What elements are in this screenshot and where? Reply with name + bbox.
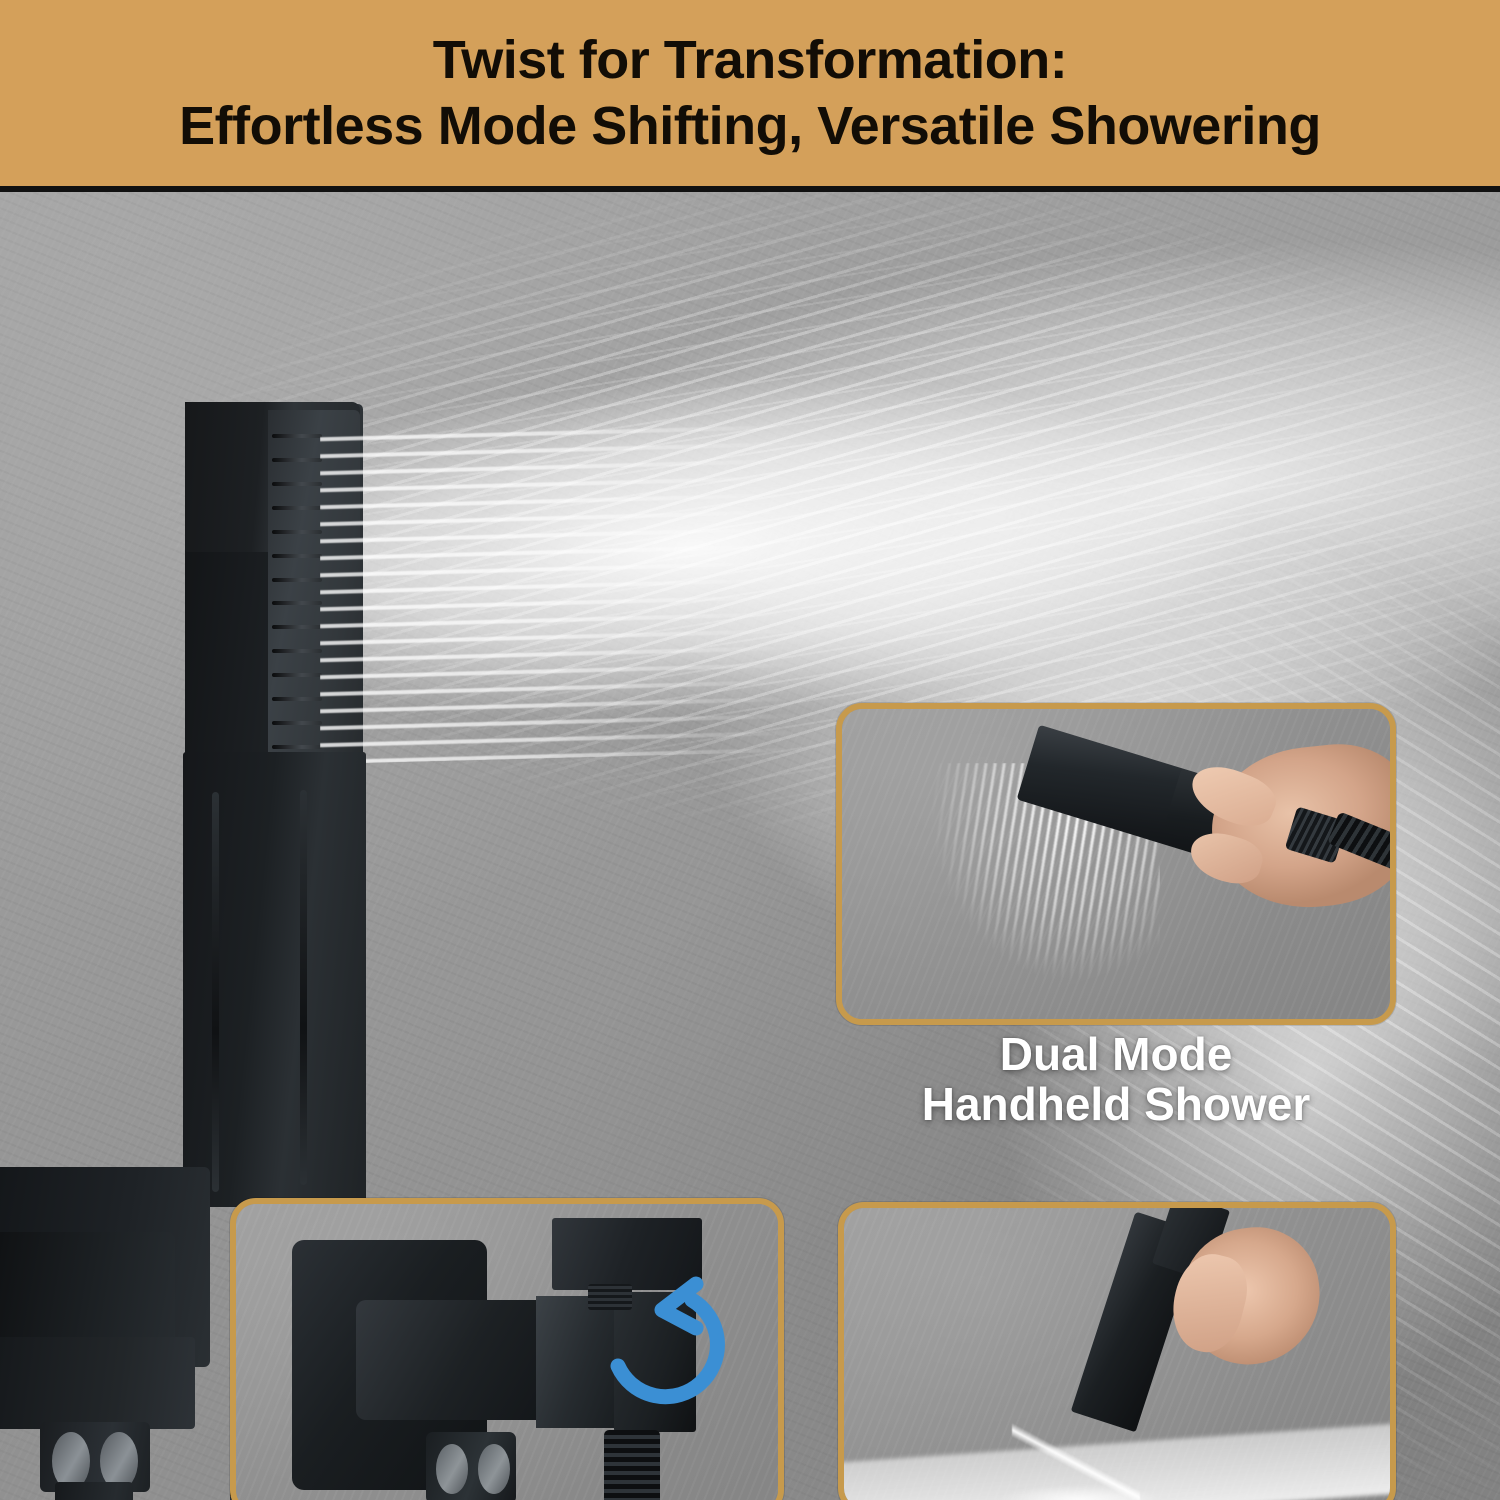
valve-cap: [0, 1337, 195, 1429]
outlet-knob-right: [478, 1444, 510, 1494]
panel3-content: [844, 1208, 1390, 1500]
panel-adjustable-shower-holder[interactable]: [230, 1198, 784, 1500]
down-pipe: [55, 1482, 133, 1500]
nozzle-row: [272, 434, 322, 438]
header-title-line-2: Effortless Mode Shifting, Versatile Show…: [179, 99, 1321, 153]
shower-body-middle: [183, 752, 366, 1207]
nozzle-row: [272, 721, 322, 725]
holder-arm: [356, 1300, 546, 1420]
product-feature-image: Twist for Transformation: Effortless Mod…: [0, 0, 1500, 1500]
flexible-hose: [604, 1430, 660, 1500]
caption1-line1: Dual Mode: [836, 1030, 1396, 1080]
nozzle-row: [272, 649, 322, 653]
nozzle-row: [272, 554, 322, 558]
caption1-line2: Handheld Shower: [836, 1080, 1396, 1130]
nozzle-row: [272, 745, 322, 749]
shower-head-nozzle-rows: [272, 434, 327, 749]
caption-dual-mode-handheld-shower: Dual Mode Handheld Shower: [836, 1030, 1396, 1129]
main-photo-stage: Dual Mode Handheld Shower Adjustable Sho…: [0, 192, 1500, 1500]
rotation-arrow-icon: [588, 1274, 730, 1416]
water-jets-from-head: [320, 422, 800, 765]
panel2-content: [236, 1204, 778, 1500]
nozzle-row: [272, 530, 322, 534]
header-banner: Twist for Transformation: Effortless Mod…: [0, 0, 1500, 192]
outlet-knob-left: [436, 1444, 468, 1494]
panel-dual-mode-handheld-shower[interactable]: [836, 703, 1396, 1025]
shower-body-groove-left: [212, 792, 219, 1192]
valve-body: [0, 1232, 175, 1350]
nozzle-row: [272, 673, 322, 677]
panel1-content: [842, 709, 1390, 1019]
nozzle-row: [272, 506, 322, 510]
nozzle-row: [272, 458, 322, 462]
nozzle-row: [272, 601, 322, 605]
nozzle-row: [272, 578, 322, 582]
nozzle-row: [272, 625, 322, 629]
nozzle-row: [272, 482, 322, 486]
nozzle-row: [272, 697, 322, 701]
water-splash: [974, 1476, 1184, 1500]
header-title-line-1: Twist for Transformation:: [433, 33, 1068, 87]
shower-body-groove-right: [300, 790, 307, 1185]
panel-spray-gun-mode[interactable]: [838, 1202, 1396, 1500]
